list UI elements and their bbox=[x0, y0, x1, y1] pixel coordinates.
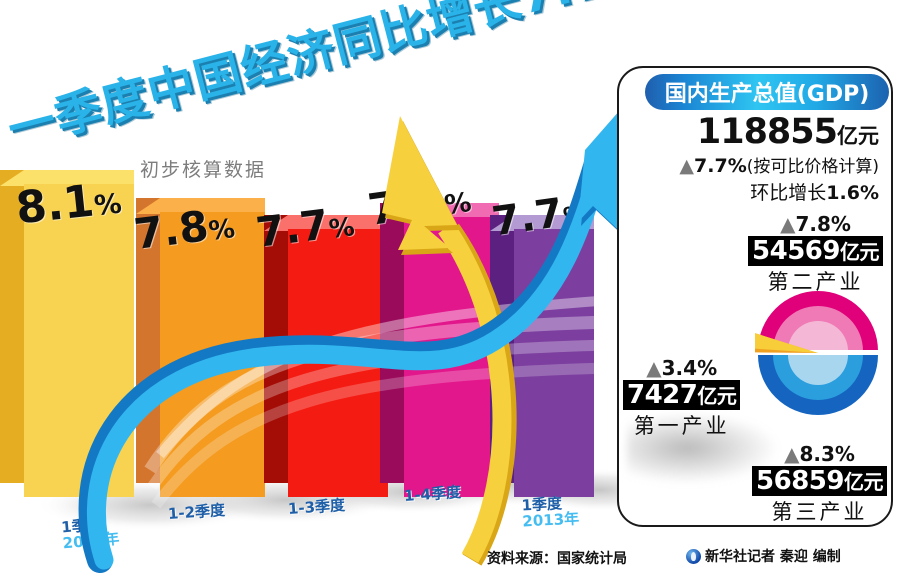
gdp-growth-line: ▲7.7%(按可比价格计算) bbox=[679, 152, 879, 177]
infographic-root: 8.1% 7.8% 7.7% 7.8% 7.7% 1季度2012年 1-2季度 … bbox=[0, 0, 900, 581]
segment-name: 第三产业 bbox=[752, 496, 887, 526]
gdp-growth-note: (按可比价格计算) bbox=[747, 157, 879, 177]
segment-name: 第一产业 bbox=[623, 410, 740, 440]
segment-unit: 亿元 bbox=[844, 470, 883, 494]
up-triangle-icon: ▲ bbox=[646, 356, 661, 380]
gdp-qoq-label: 环比增长 bbox=[750, 182, 826, 204]
segment-growth-line: ▲3.4% bbox=[623, 356, 740, 380]
gdp-growth-pct: 7.7% bbox=[694, 155, 747, 177]
segment-growth-pct: 3.4% bbox=[662, 356, 717, 380]
gdp-total-value: 118855亿元 bbox=[697, 112, 879, 152]
up-triangle-icon: ▲ bbox=[784, 442, 799, 466]
gdp-qoq-line: 环比增长1.6% bbox=[750, 178, 879, 205]
gdp-panel: 国内生产总值(GDP) 118855亿元 ▲7.7%(按可比价格计算) 环比增长… bbox=[617, 66, 893, 527]
segment-growth-line: ▲7.8% bbox=[748, 212, 883, 236]
xinhua-logo-icon bbox=[686, 549, 701, 564]
subtitle-note: 初步核算数据 bbox=[140, 155, 266, 182]
segment-growth-pct: 7.8% bbox=[795, 212, 850, 236]
up-triangle-icon: ▲ bbox=[780, 212, 795, 236]
credit-text: 新华社记者 秦迎 编制 bbox=[705, 546, 841, 566]
segment-value: 7427 bbox=[627, 380, 697, 410]
industry-donut-chart bbox=[755, 290, 881, 416]
gdp-panel-header: 国内生产总值(GDP) bbox=[645, 74, 889, 110]
segment-value: 54569 bbox=[752, 236, 840, 266]
gdp-total-number: 118855 bbox=[697, 112, 837, 152]
up-triangle-icon: ▲ bbox=[679, 155, 694, 177]
credit-note: 新华社记者 秦迎 编制 bbox=[686, 546, 841, 566]
gdp-total-unit: 亿元 bbox=[837, 124, 879, 148]
segment-growth-line: ▲8.3% bbox=[752, 442, 887, 466]
gdp-qoq-value: 1.6% bbox=[826, 182, 879, 204]
segment-value-box: 7427亿元 bbox=[623, 380, 740, 410]
segment-unit: 亿元 bbox=[840, 240, 879, 264]
segment-growth-pct: 8.3% bbox=[799, 442, 854, 466]
segment-unit: 亿元 bbox=[697, 384, 736, 408]
segment-secondary-industry: ▲7.8% 54569亿元 第二产业 bbox=[748, 212, 883, 296]
segment-value: 56859 bbox=[756, 466, 844, 496]
source-note: 资料来源：国家统计局 bbox=[487, 548, 627, 568]
segment-primary-industry: ▲3.4% 7427亿元 第一产业 bbox=[623, 356, 740, 440]
segment-tertiary-industry: ▲8.3% 56859亿元 第三产业 bbox=[752, 442, 887, 526]
segment-value-box: 56859亿元 bbox=[752, 466, 887, 496]
segment-value-box: 54569亿元 bbox=[748, 236, 883, 266]
